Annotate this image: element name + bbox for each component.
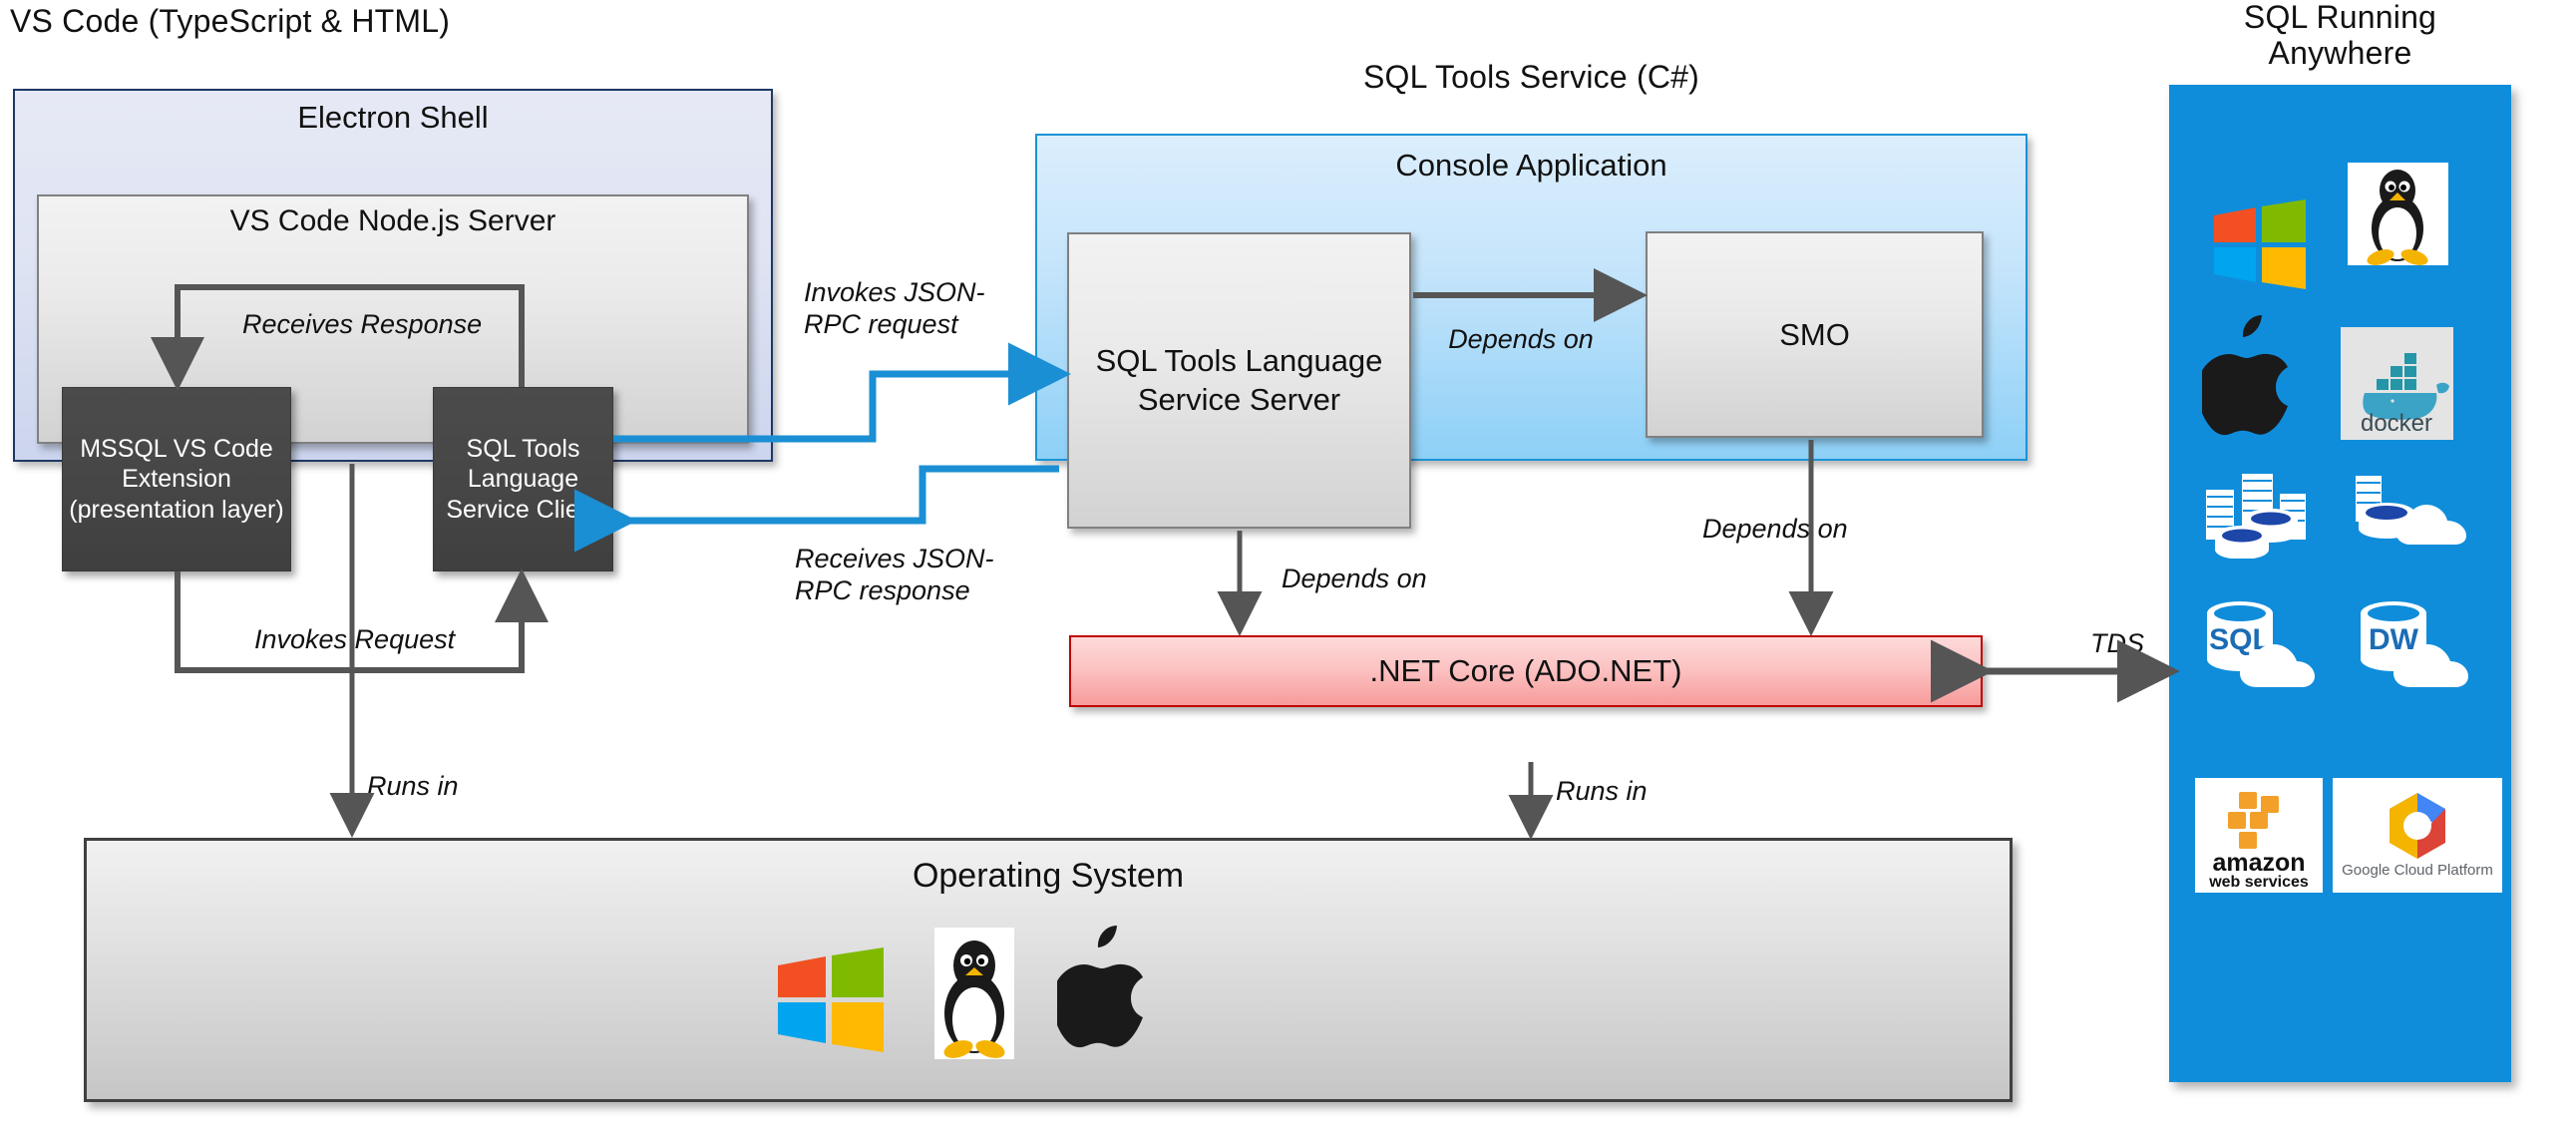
arrow-receives-json-rpc-response — [623, 469, 1059, 521]
label-runs-in-right: Runs in — [1556, 776, 1755, 808]
label-receives-response: Receives Response — [242, 309, 542, 341]
sql-tools-language-service-server-label: SQL Tools Language Service Server — [1069, 342, 1409, 420]
mssql-vscode-extension-label: MSSQL VS Code Extension (presentation la… — [63, 434, 290, 526]
label-depends-on-netcore-from-smo: Depends on — [1702, 514, 1942, 546]
label-depends-on-netcore-from-server: Depends on — [1282, 564, 1521, 595]
smo-box[interactable]: SMO — [1646, 231, 1984, 438]
electron-shell-title: Electron Shell — [15, 91, 771, 136]
sqlpanel-on-premises-datacenter-icon — [2199, 467, 2324, 559]
aws-wordmark: amazon — [2212, 849, 2305, 877]
sqlpanel-linux-tux-logo — [2348, 163, 2448, 265]
windows-logo — [776, 947, 886, 1052]
docker-wordmark: docker — [2361, 410, 2432, 437]
operating-system-title: Operating System — [87, 841, 2010, 896]
label-tds: TDS — [2062, 628, 2172, 660]
sqlpanel-docker-logo: docker — [2341, 327, 2453, 440]
mssql-vscode-extension-box[interactable]: MSSQL VS Code Extension (presentation la… — [62, 387, 291, 571]
label-runs-in-left: Runs in — [367, 771, 566, 803]
caption-sql-running-anywhere-line1: SQL Running — [2169, 0, 2511, 36]
apple-logo — [1057, 918, 1162, 1057]
console-application-title: Console Application — [1037, 136, 2025, 184]
label-invokes-json-rpc-request: Invokes JSON-RPC request — [804, 277, 1018, 341]
label-invokes-request: Invokes Request — [254, 624, 553, 656]
dotnet-core-adonet-label: .NET Core (ADO.NET) — [1370, 653, 1682, 689]
caption-sql-tools-service: SQL Tools Service (C#) — [1035, 60, 2027, 96]
smo-label: SMO — [1779, 317, 1850, 353]
sqlpanel-amazon-web-services-logo: amazon web services — [2195, 778, 2323, 893]
operating-system-box: Operating System — [84, 838, 2013, 1102]
aws-subwordmark: web services — [2208, 874, 2309, 891]
sqlpanel-windows-logo — [2212, 199, 2308, 289]
sqlpanel-azure-cloud-db-icon — [2349, 469, 2488, 561]
sql-tools-language-service-server-box[interactable]: SQL Tools Language Service Server — [1067, 232, 1411, 529]
caption-vscode: VS Code (TypeScript & HTML) — [10, 4, 708, 40]
sqlpanel-azure-sql-database-icon: SQL — [2194, 595, 2334, 695]
gcp-wordmark: Google Cloud Platform — [2342, 862, 2493, 879]
sqlpanel-azure-sql-data-warehouse-icon: DW — [2346, 595, 2493, 695]
vscode-nodejs-server-title: VS Code Node.js Server — [39, 196, 747, 238]
sql-tools-language-service-client-label: SQL Tools Language Service Client — [434, 434, 612, 526]
sql-tools-language-service-client-box[interactable]: SQL Tools Language Service Client — [433, 387, 613, 571]
dotnet-core-adonet-box[interactable]: .NET Core (ADO.NET) — [1069, 635, 1983, 707]
label-depends-on-smo: Depends on — [1441, 324, 1601, 356]
sqlpanel-google-cloud-platform-logo: Google Cloud Platform — [2333, 778, 2502, 893]
caption-sql-running-anywhere-line2: Anywhere — [2169, 36, 2511, 72]
label-receives-json-rpc-response: Receives JSON-RPC response — [795, 544, 1009, 607]
sqlpanel-apple-logo — [2202, 309, 2307, 444]
caption-sql-running-anywhere: SQL Running Anywhere — [2169, 0, 2511, 72]
linux-tux-logo — [934, 928, 1014, 1059]
